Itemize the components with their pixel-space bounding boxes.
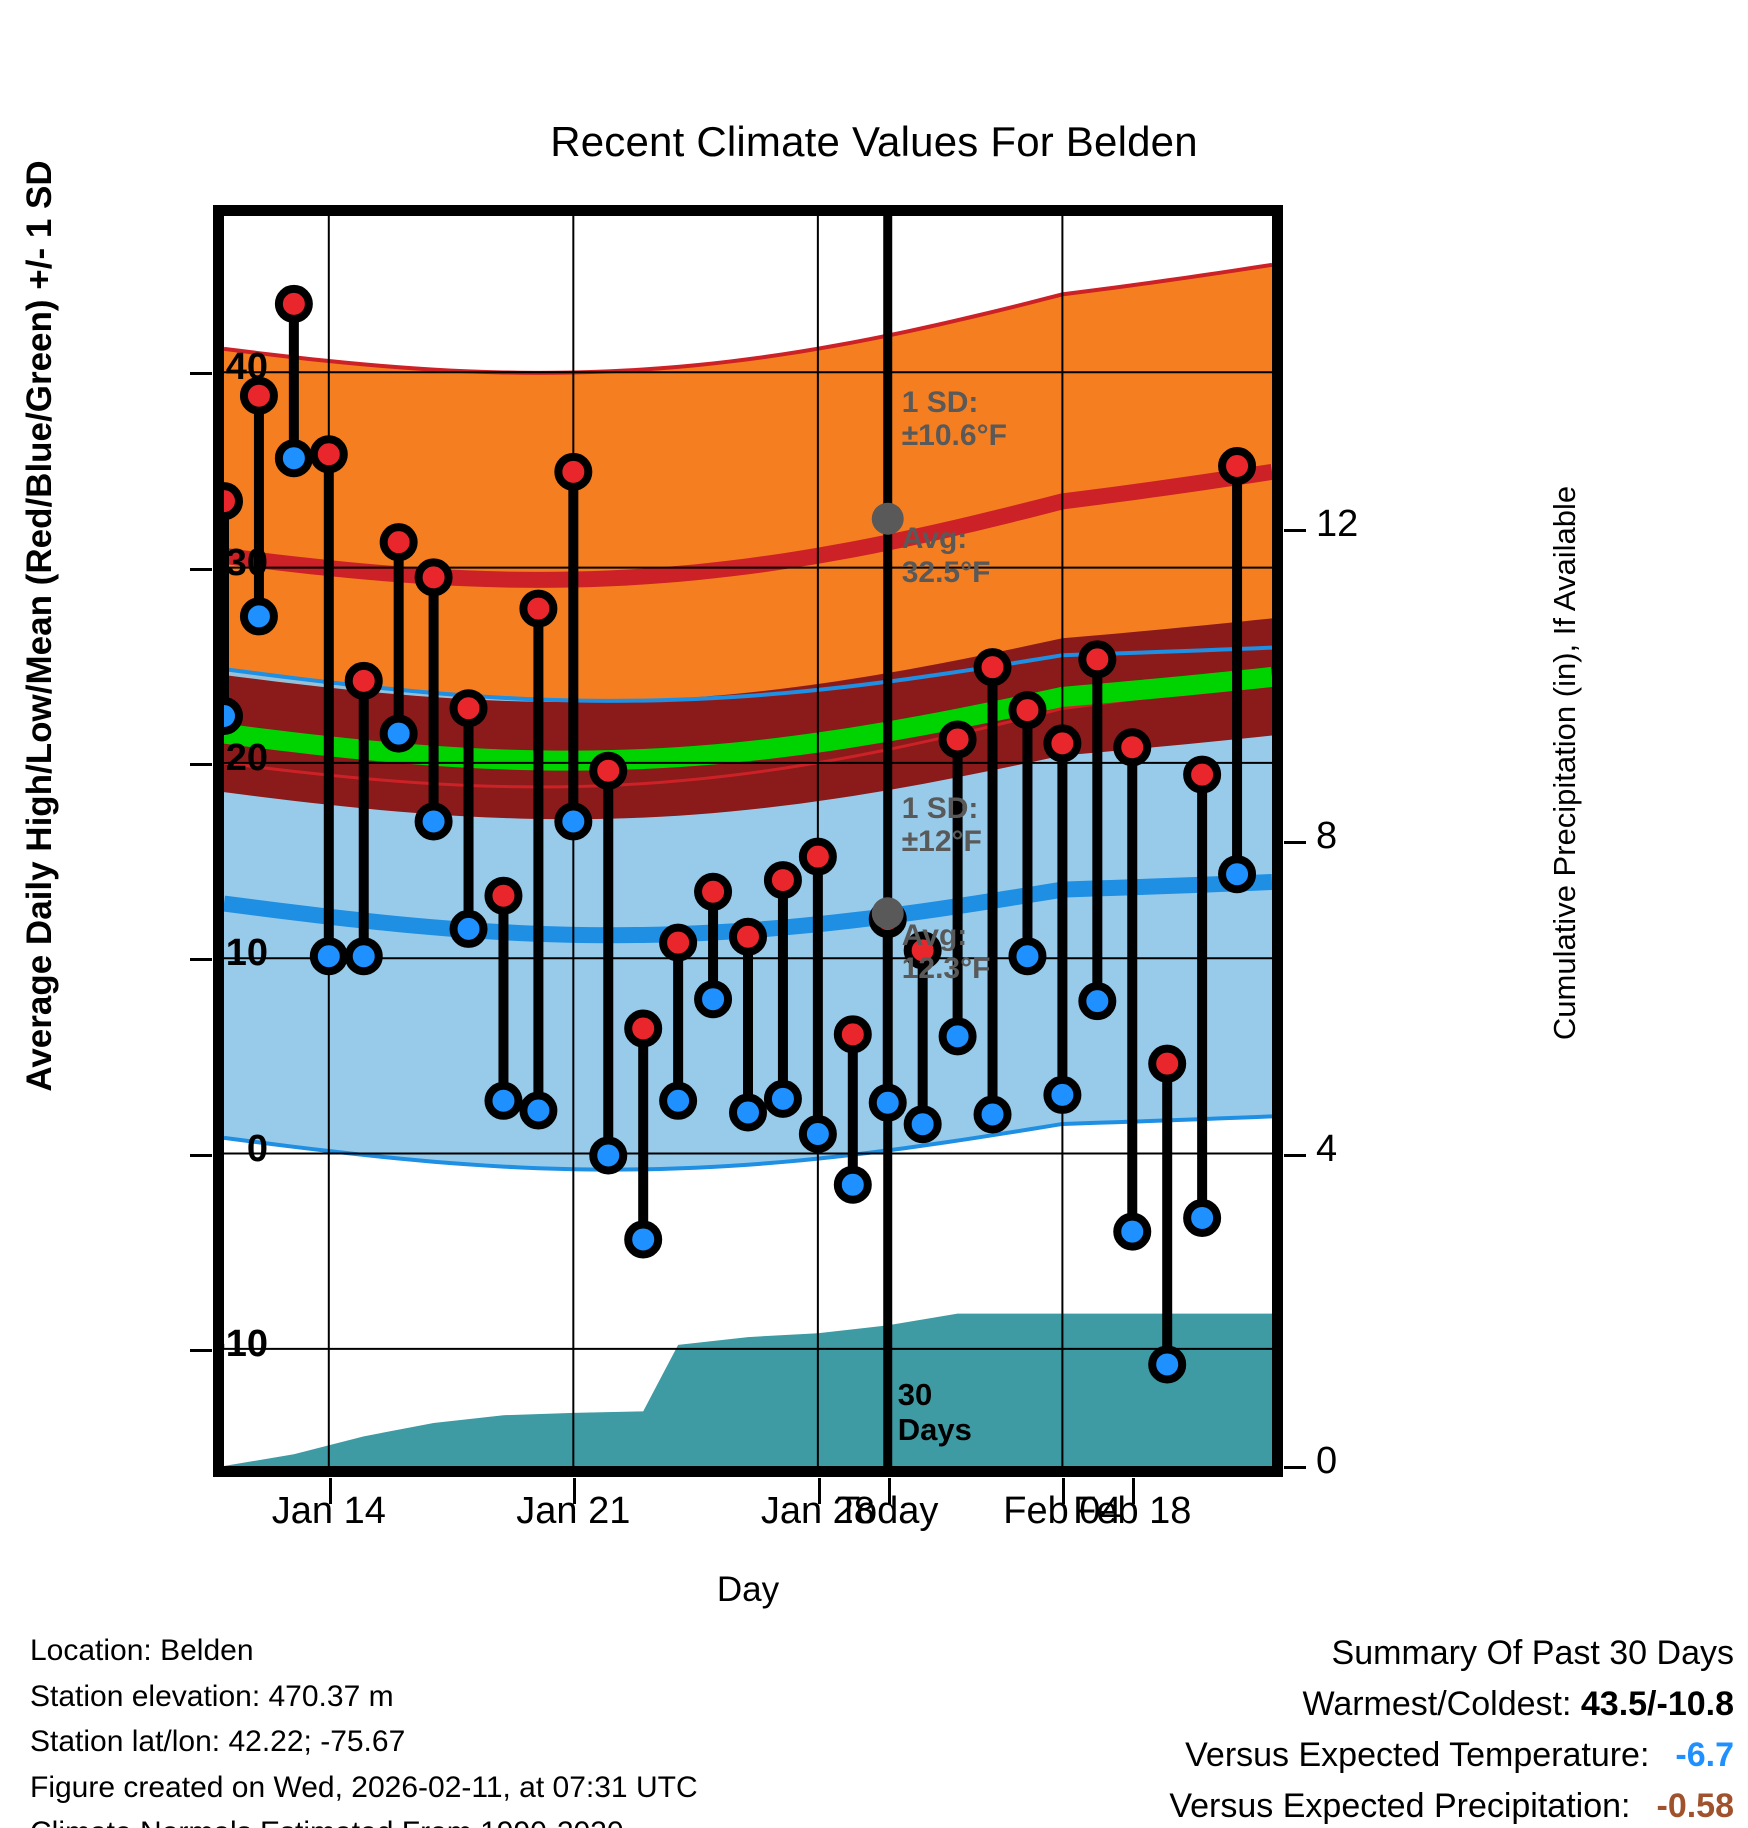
y-axis-right-title: Cumulative Precipitation (in), If Availa… [1547,263,1583,1263]
plot-area [213,205,1283,1477]
y-tick-right-0: 0 [1316,1440,1436,1483]
summary-vs-precipitation: Versus Expected Precipitation:-0.58 [1169,1781,1734,1828]
vs-precip-value: -0.58 [1657,1787,1735,1825]
summary-vs-temperature: Versus Expected Temperature:-6.7 [1169,1730,1734,1781]
annotation-high-sd: 1 SD: ±10.6°F [902,386,1007,453]
y-tickmark-right [1284,1466,1306,1469]
meta-normals: Climate Normals Estimated From 1990-2020 [30,1810,698,1828]
y-tick-left-10: 10 [68,932,268,975]
y-axis-left-title: Average Daily High/Low/Mean (Red/Blue/Gr… [20,26,60,1226]
y-tick-left-40: 40 [68,346,268,389]
climate-figure: Recent Climate Values For Belden Average… [0,0,1748,1828]
summary-block: Summary Of Past 30 Days Warmest/Coldest:… [1169,1628,1734,1828]
annotation-high-avg: Avg: 32.5°F [902,522,991,589]
warmest-coldest-label: Warmest/Coldest: [1303,1685,1572,1723]
x-tickmark [888,1478,891,1504]
y-tick-left-30: 30 [68,542,268,585]
meta-location: Location: Belden [30,1628,698,1674]
y-tickmark-left [190,958,212,961]
y-tick-right-12: 12 [1316,503,1436,546]
y-tickmark-left [190,1154,212,1157]
meta-created: Figure created on Wed, 2026-02-11, at 07… [30,1765,698,1811]
y-tickmark-left [190,372,212,375]
y-tick-left-0: 0 [68,1128,268,1171]
meta-latlon: Station lat/lon: 42.22; -75.67 [30,1719,698,1765]
climate-plot-svg [224,216,1272,1466]
y-tickmark-left [190,1349,212,1352]
summary-warmest-coldest: Warmest/Coldest: 43.5/-10.8 [1169,1679,1734,1730]
warmest-coldest-value: 43.5/-10.8 [1581,1685,1734,1723]
metadata-block: Location: Belden Station elevation: 470.… [30,1628,698,1828]
y-tick-right-4: 4 [1316,1128,1436,1171]
page-title: Recent Climate Values For Belden [0,118,1748,166]
y-tick-left--10: -10 [68,1323,268,1366]
plot-inner [224,216,1272,1466]
y-tick-left-20: 20 [68,737,268,780]
x-axis-title: Day [213,1570,1283,1610]
y-tickmark-right [1284,529,1306,532]
vs-temp-value: -6.7 [1675,1736,1734,1774]
x-tickmark [573,1478,576,1504]
annotation-window: 30 Days [898,1378,972,1447]
x-tickmark [1132,1478,1135,1504]
y-tickmark-right [1284,841,1306,844]
vs-precip-label: Versus Expected Precipitation: [1169,1787,1630,1825]
meta-elevation: Station elevation: 470.37 m [30,1674,698,1720]
annotation-low-sd: 1 SD: ±12°F [902,792,982,859]
y-tick-right-8: 8 [1316,815,1436,858]
annotation-low-avg: Avg: 12.3°F [902,919,991,986]
x-tickmark [329,1478,332,1504]
summary-heading: Summary Of Past 30 Days [1169,1628,1734,1679]
y-tickmark-left [190,763,212,766]
vs-temp-label: Versus Expected Temperature: [1185,1736,1649,1774]
y-tickmark-left [190,568,212,571]
y-tickmark-right [1284,1154,1306,1157]
